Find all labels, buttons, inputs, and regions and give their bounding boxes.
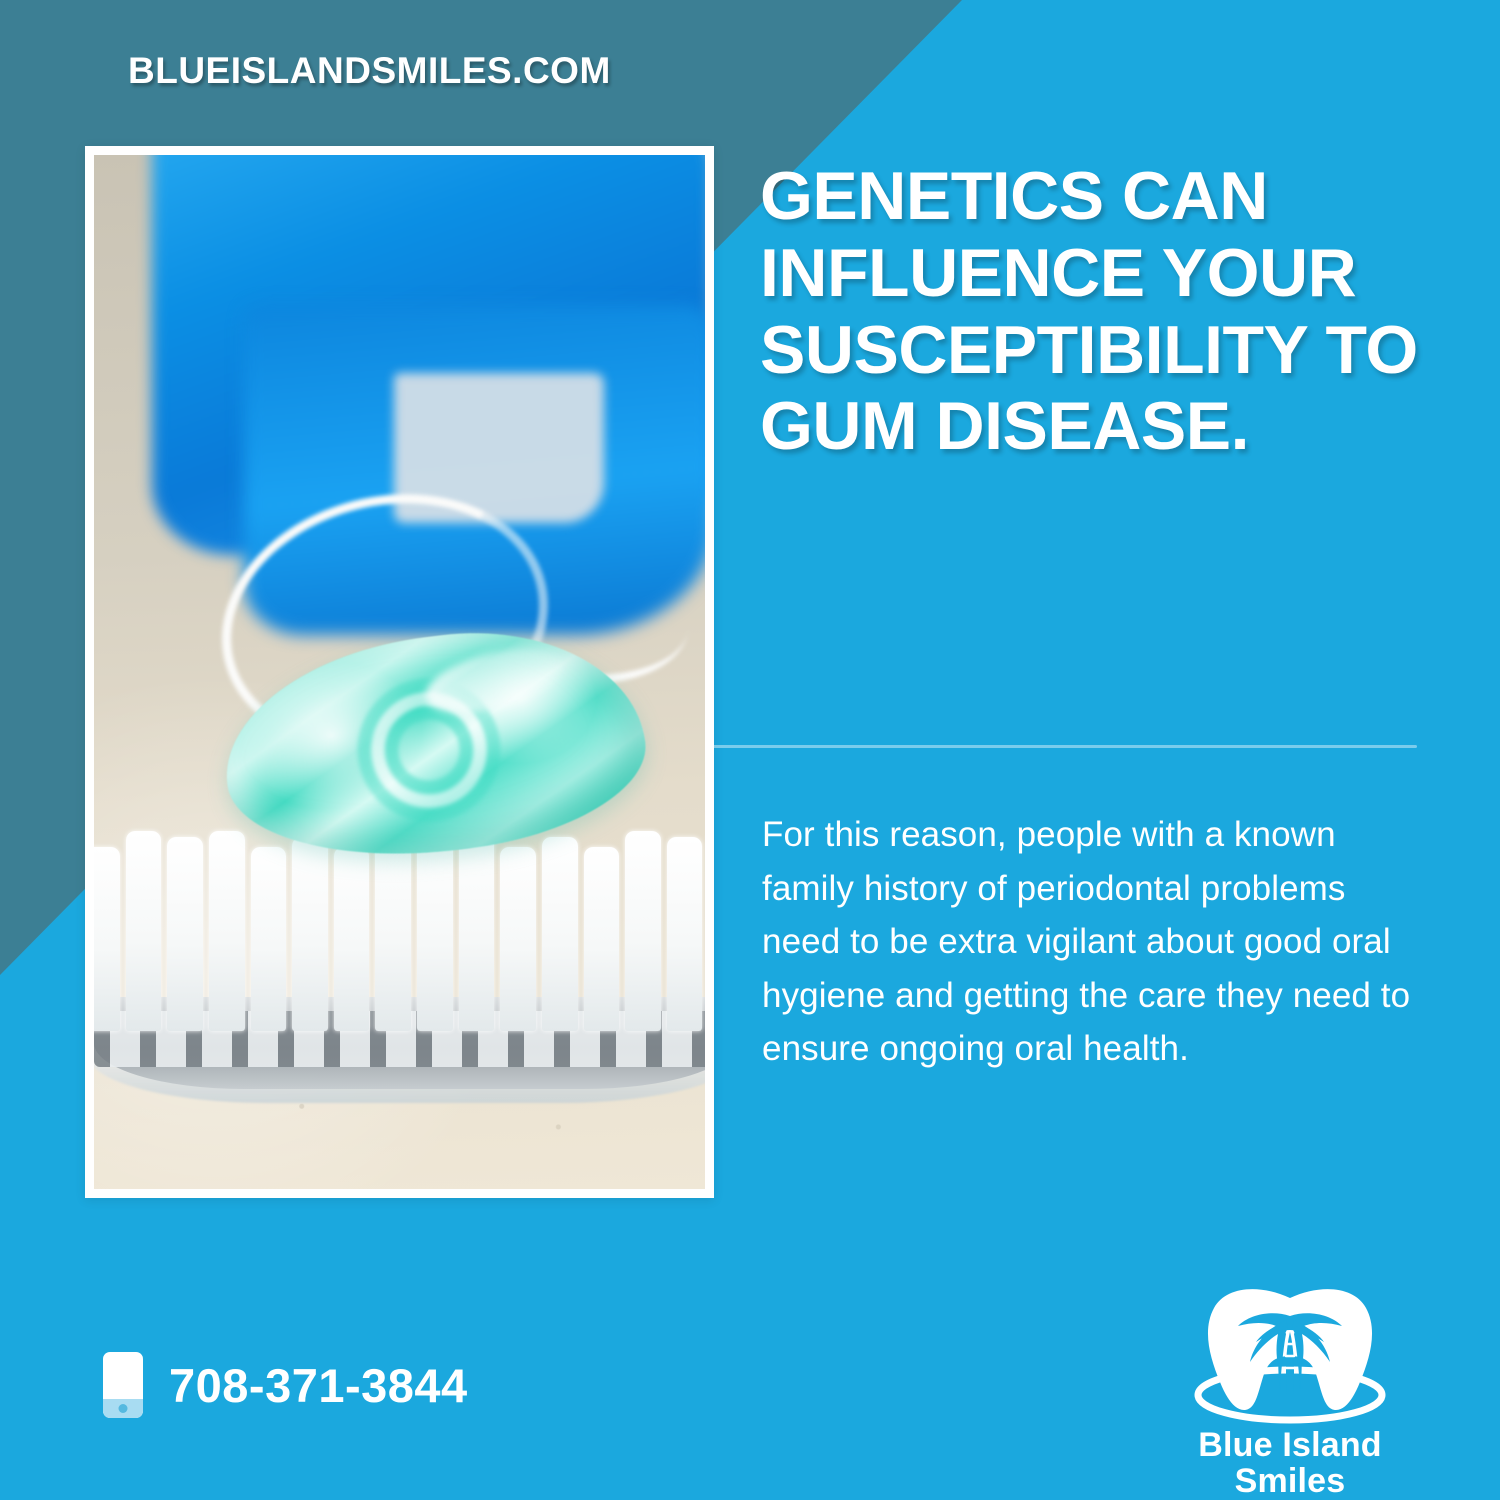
headline: GENETICS CAN INFLUENCE YOUR SUSCEPTIBILI…: [760, 158, 1430, 465]
hero-photo: [94, 155, 705, 1189]
phone-contact[interactable]: 708-371-3844: [103, 1352, 468, 1418]
hero-photo-frame: [85, 146, 714, 1198]
photo-brush-bristles: [94, 831, 705, 1031]
logo-brand-name: Blue Island Smiles: [1140, 1428, 1440, 1499]
poster-canvas: BLUEISLANDSMILES.COM GENETICS CAN INF: [0, 0, 1500, 1500]
body-paragraph: For this reason, people with a known fam…: [762, 808, 1422, 1076]
section-divider: [712, 745, 1417, 748]
tooth-palm-island-icon: [1140, 1282, 1440, 1432]
brand-logo: Blue Island Smiles Family Dentistry: [1140, 1282, 1440, 1500]
website-url: BLUEISLANDSMILES.COM: [128, 50, 611, 92]
phone-number[interactable]: 708-371-3844: [169, 1358, 468, 1413]
mobile-phone-icon: [103, 1352, 143, 1418]
